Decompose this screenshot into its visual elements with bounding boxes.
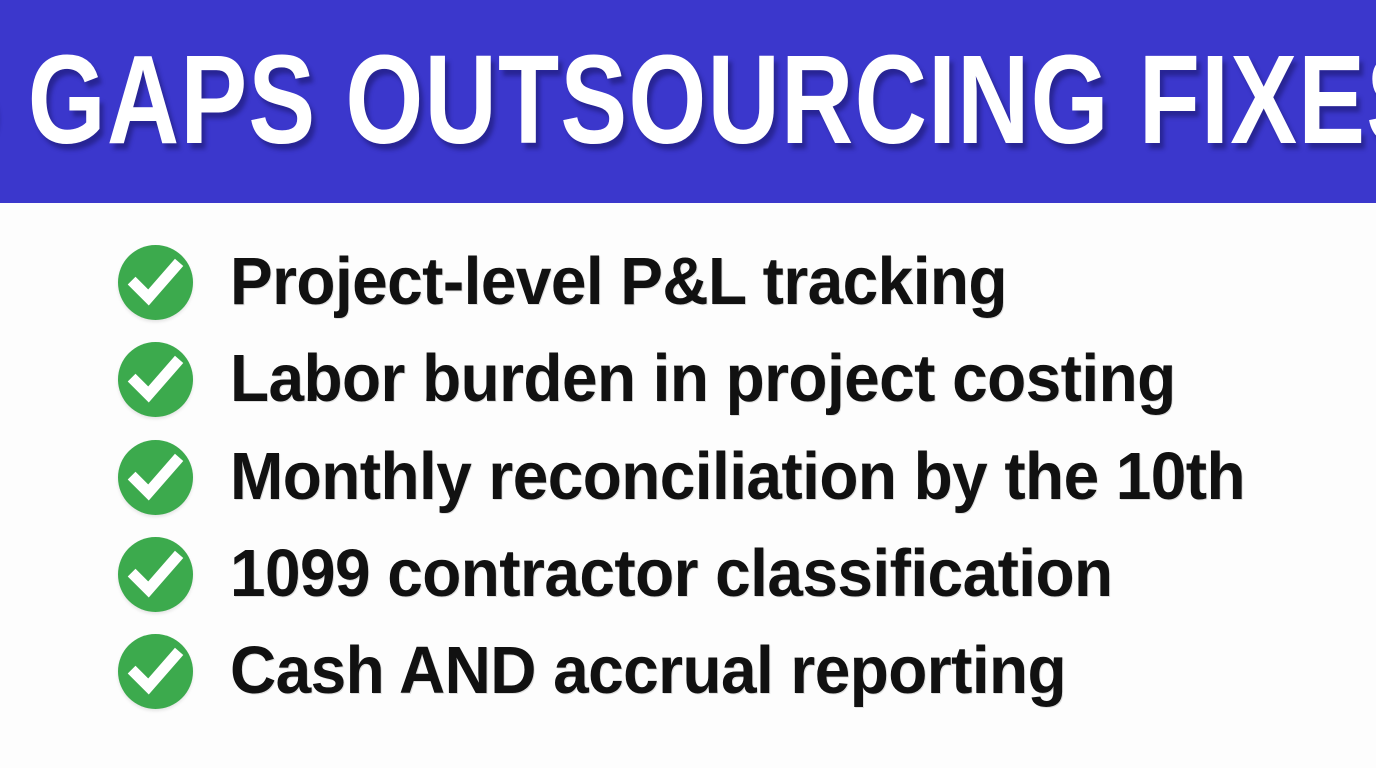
list-item: 1099 contractor classification — [118, 536, 1154, 612]
header-band: 5 GAPS OUTSOURCING FIXES — [0, 0, 1376, 203]
page-title: 5 GAPS OUTSOURCING FIXES — [141, 0, 1235, 203]
check-circle-icon — [118, 537, 193, 612]
check-circle-icon — [118, 245, 193, 320]
check-circle-icon — [118, 440, 193, 515]
list-item: Labor burden in project costing — [118, 341, 1220, 417]
slide-root: 5 GAPS OUTSOURCING FIXES Project-level P… — [0, 0, 1376, 768]
list-item: Project-level P&L tracking — [118, 244, 1044, 320]
check-circle-icon — [118, 634, 193, 709]
list-item-label: Project-level P&L tracking — [230, 244, 1007, 320]
list-item-label: 1099 contractor classification — [230, 536, 1113, 612]
list-item: Monthly reconciliation by the 10th — [118, 439, 1293, 515]
list-item: Cash AND accrual reporting — [118, 633, 1105, 709]
checklist: Project-level P&L tracking Labor burden … — [0, 203, 1376, 768]
list-item-label: Cash AND accrual reporting — [230, 633, 1066, 709]
list-item-label: Labor burden in project costing — [230, 341, 1176, 417]
list-item-label: Monthly reconciliation by the 10th — [230, 439, 1245, 515]
check-circle-icon — [118, 342, 193, 417]
